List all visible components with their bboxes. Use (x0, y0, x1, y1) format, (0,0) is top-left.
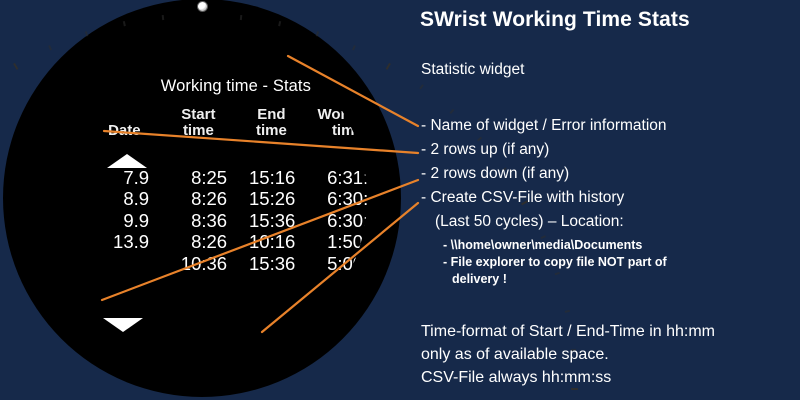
column-header-end-time: End time (237, 107, 306, 139)
cell-end-time: 15:26 (235, 188, 303, 210)
watch-screen: Working time - Stats Date Start time End… (37, 33, 367, 363)
triangle-down-icon[interactable] (103, 318, 143, 332)
table-body: 7.9 8:25 15:16 6:31:05 8.9 8:26 15:26 6:… (89, 167, 367, 275)
cell-end-time: 15:36 (235, 210, 303, 232)
cell-end-time: 15:36 (235, 253, 303, 275)
bezel-tick-icon (85, 31, 88, 36)
cell-working-time: 6:31:05 (303, 167, 367, 189)
bezel-tick-icon (352, 45, 356, 50)
list-item-continuation: (Last 50 cycles) – Location: (421, 210, 667, 234)
list-item: - Create CSV-File with history (421, 186, 667, 210)
cell-date: 7.9 (89, 167, 159, 189)
column-header-date-line2: Date (89, 123, 160, 139)
cell-date: 9.9 (89, 210, 159, 232)
cell-end-time: 10:16 (235, 231, 303, 253)
list-item: - Name of widget / Error information (421, 114, 667, 138)
bezel-tick-icon (162, 15, 165, 20)
cell-start-time: 8:26 (159, 188, 235, 210)
column-header-start-time: Start time (160, 107, 237, 139)
twelve-oclock-marker-icon (197, 1, 208, 12)
list-item: - 2 rows down (if any) (421, 162, 667, 186)
column-header-end-line2: time (237, 123, 306, 139)
column-header-start-line1: Start (160, 107, 237, 123)
table-header-row: Date Start time End time Working time (89, 107, 367, 139)
table-row[interactable]: 8.9 8:26 15:26 6:30:13 (89, 188, 367, 210)
footer-line: CSV-File always hh:mm:ss (421, 366, 715, 389)
smartwatch-device: Working time - Stats Date Start time End… (3, 0, 401, 397)
cell-end-time: 15:16 (235, 167, 303, 189)
column-header-start-line2: time (160, 123, 237, 139)
table-row[interactable]: 7.9 8:25 15:16 6:31:05 (89, 167, 367, 189)
cell-date (89, 253, 159, 275)
cell-date: 8.9 (89, 188, 159, 210)
column-header-working-line1: Working (306, 107, 367, 123)
triangle-up-icon[interactable] (107, 154, 147, 168)
panel-subtitle: Statistic widget (421, 61, 524, 79)
cell-start-time: 10:36 (159, 253, 235, 275)
widget-title: Working time - Stats (37, 77, 367, 96)
bezel-tick-icon (386, 63, 391, 70)
footer-note: Time-format of Start / End-Time in hh:mm… (421, 320, 715, 389)
cell-working-time: 6:30:13 (303, 188, 367, 210)
cell-start-time: 8:26 (159, 231, 235, 253)
cell-working-time: 5:00:08 (303, 253, 367, 275)
csv-location-sublist: - \\home\owner\media\Documents - File ex… (443, 237, 667, 288)
list-item-continuation: delivery ! (443, 271, 667, 288)
bezel-tick-icon (48, 45, 52, 50)
bezel-tick-icon (316, 31, 319, 36)
feature-bullet-list: - Name of widget / Error information - 2… (421, 114, 667, 288)
bezel-tick-icon (13, 63, 18, 70)
column-header-working-line2: time (306, 123, 367, 139)
cell-start-time: 8:25 (159, 167, 235, 189)
list-item: - \\home\owner\media\Documents (443, 237, 667, 254)
working-time-table: Date Start time End time Working time (89, 107, 367, 275)
table-row[interactable]: 13.9 8:26 10:16 1:50:07 (89, 231, 367, 253)
page-title: SWrist Working Time Stats (420, 8, 690, 32)
cell-working-time: 6:30:26 (303, 210, 367, 232)
cell-start-time: 8:36 (159, 210, 235, 232)
column-header-working-time: Working time (306, 107, 367, 139)
footer-line: Time-format of Start / End-Time in hh:mm (421, 320, 715, 343)
cell-working-time: 1:50:07 (303, 231, 367, 253)
screenshot-root: Working time - Stats Date Start time End… (0, 0, 800, 400)
column-header-end-line1: End (237, 107, 306, 123)
cell-date: 13.9 (89, 231, 159, 253)
table-row[interactable]: 9.9 8:36 15:36 6:30:26 (89, 210, 367, 232)
list-item: - 2 rows up (if any) (421, 138, 667, 162)
footer-line: only as of available space. (421, 343, 715, 366)
annotation-panel: SWrist Working Time Stats Statistic widg… (420, 0, 800, 400)
column-header-date: Date (89, 123, 160, 139)
list-item: - File explorer to copy file NOT part of (443, 254, 667, 271)
table-row[interactable]: 10:36 15:36 5:00:08 (89, 253, 367, 275)
